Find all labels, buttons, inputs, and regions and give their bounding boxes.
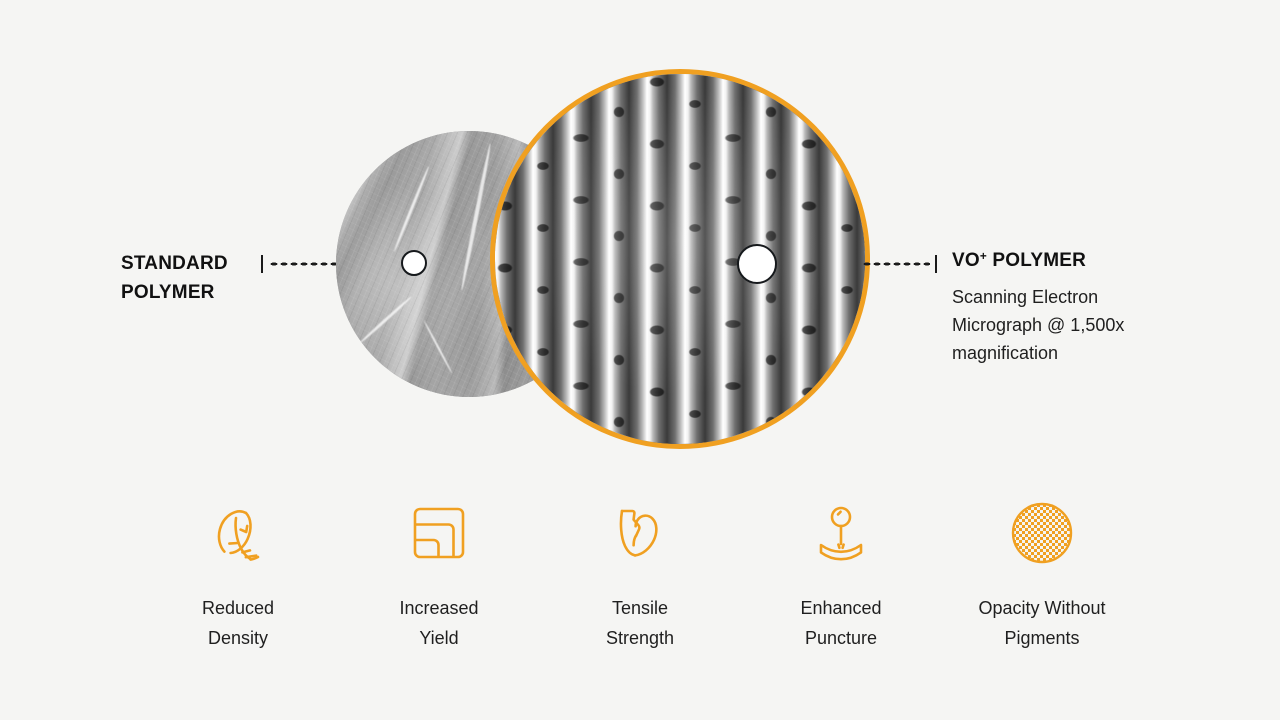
- feature-label: Tensile Strength: [606, 594, 674, 654]
- flexed-arm-icon: [603, 496, 677, 570]
- vo-plus-vignette: [495, 74, 865, 444]
- standard-polymer-title-line1: STANDARD: [121, 253, 228, 274]
- vo-plus-polymer-sample-circle: [490, 69, 870, 449]
- feature-item-enhanced-puncture: Enhanced Puncture: [753, 496, 929, 654]
- vo-plus-title-suffix: POLYMER: [987, 250, 1086, 271]
- feature-item-tensile-strength: Tensile Strength: [552, 496, 728, 654]
- feather-icon: [201, 496, 275, 570]
- vo-plus-polymer-title: VO+ POLYMER: [952, 250, 1192, 272]
- leader-tick-left: [261, 255, 263, 273]
- halftone-circle-icon: [1005, 496, 1079, 570]
- standard-polymer-title-line2: POLYMER: [121, 279, 261, 308]
- puncture-probe-icon: [804, 496, 878, 570]
- feature-label: Opacity Without Pigments: [978, 594, 1105, 654]
- feature-item-increased-yield: Increased Yield: [351, 496, 527, 654]
- feature-list: Reduced Density Increased Yield: [150, 496, 1130, 654]
- vo-plus-title-superscript: +: [980, 250, 987, 263]
- standard-polymer-node-marker: [401, 250, 427, 276]
- leader-line-right: [861, 253, 937, 275]
- feature-label: Enhanced Puncture: [800, 594, 881, 654]
- vo-plus-title-prefix: VO: [952, 250, 980, 271]
- leader-dots-right: [861, 262, 930, 266]
- nested-squares-icon: [402, 496, 476, 570]
- standard-polymer-label: STANDARD POLYMER: [121, 250, 261, 308]
- feature-label: Reduced Density: [202, 594, 274, 654]
- leader-tick-right: [935, 255, 937, 273]
- feature-label: Increased Yield: [399, 594, 478, 654]
- infographic-stage: STANDARD POLYMER VO+ POLYMER Scanning El…: [0, 0, 1280, 720]
- feature-item-reduced-density: Reduced Density: [150, 496, 326, 654]
- vo-plus-polymer-description: Scanning Electron Micrograph @ 1,500x ma…: [952, 284, 1192, 368]
- vo-plus-polymer-label: VO+ POLYMER Scanning Electron Micrograph…: [952, 250, 1192, 368]
- vo-plus-polymer-node-marker: [737, 244, 777, 284]
- feature-item-opacity-without-pigments: Opacity Without Pigments: [954, 496, 1130, 654]
